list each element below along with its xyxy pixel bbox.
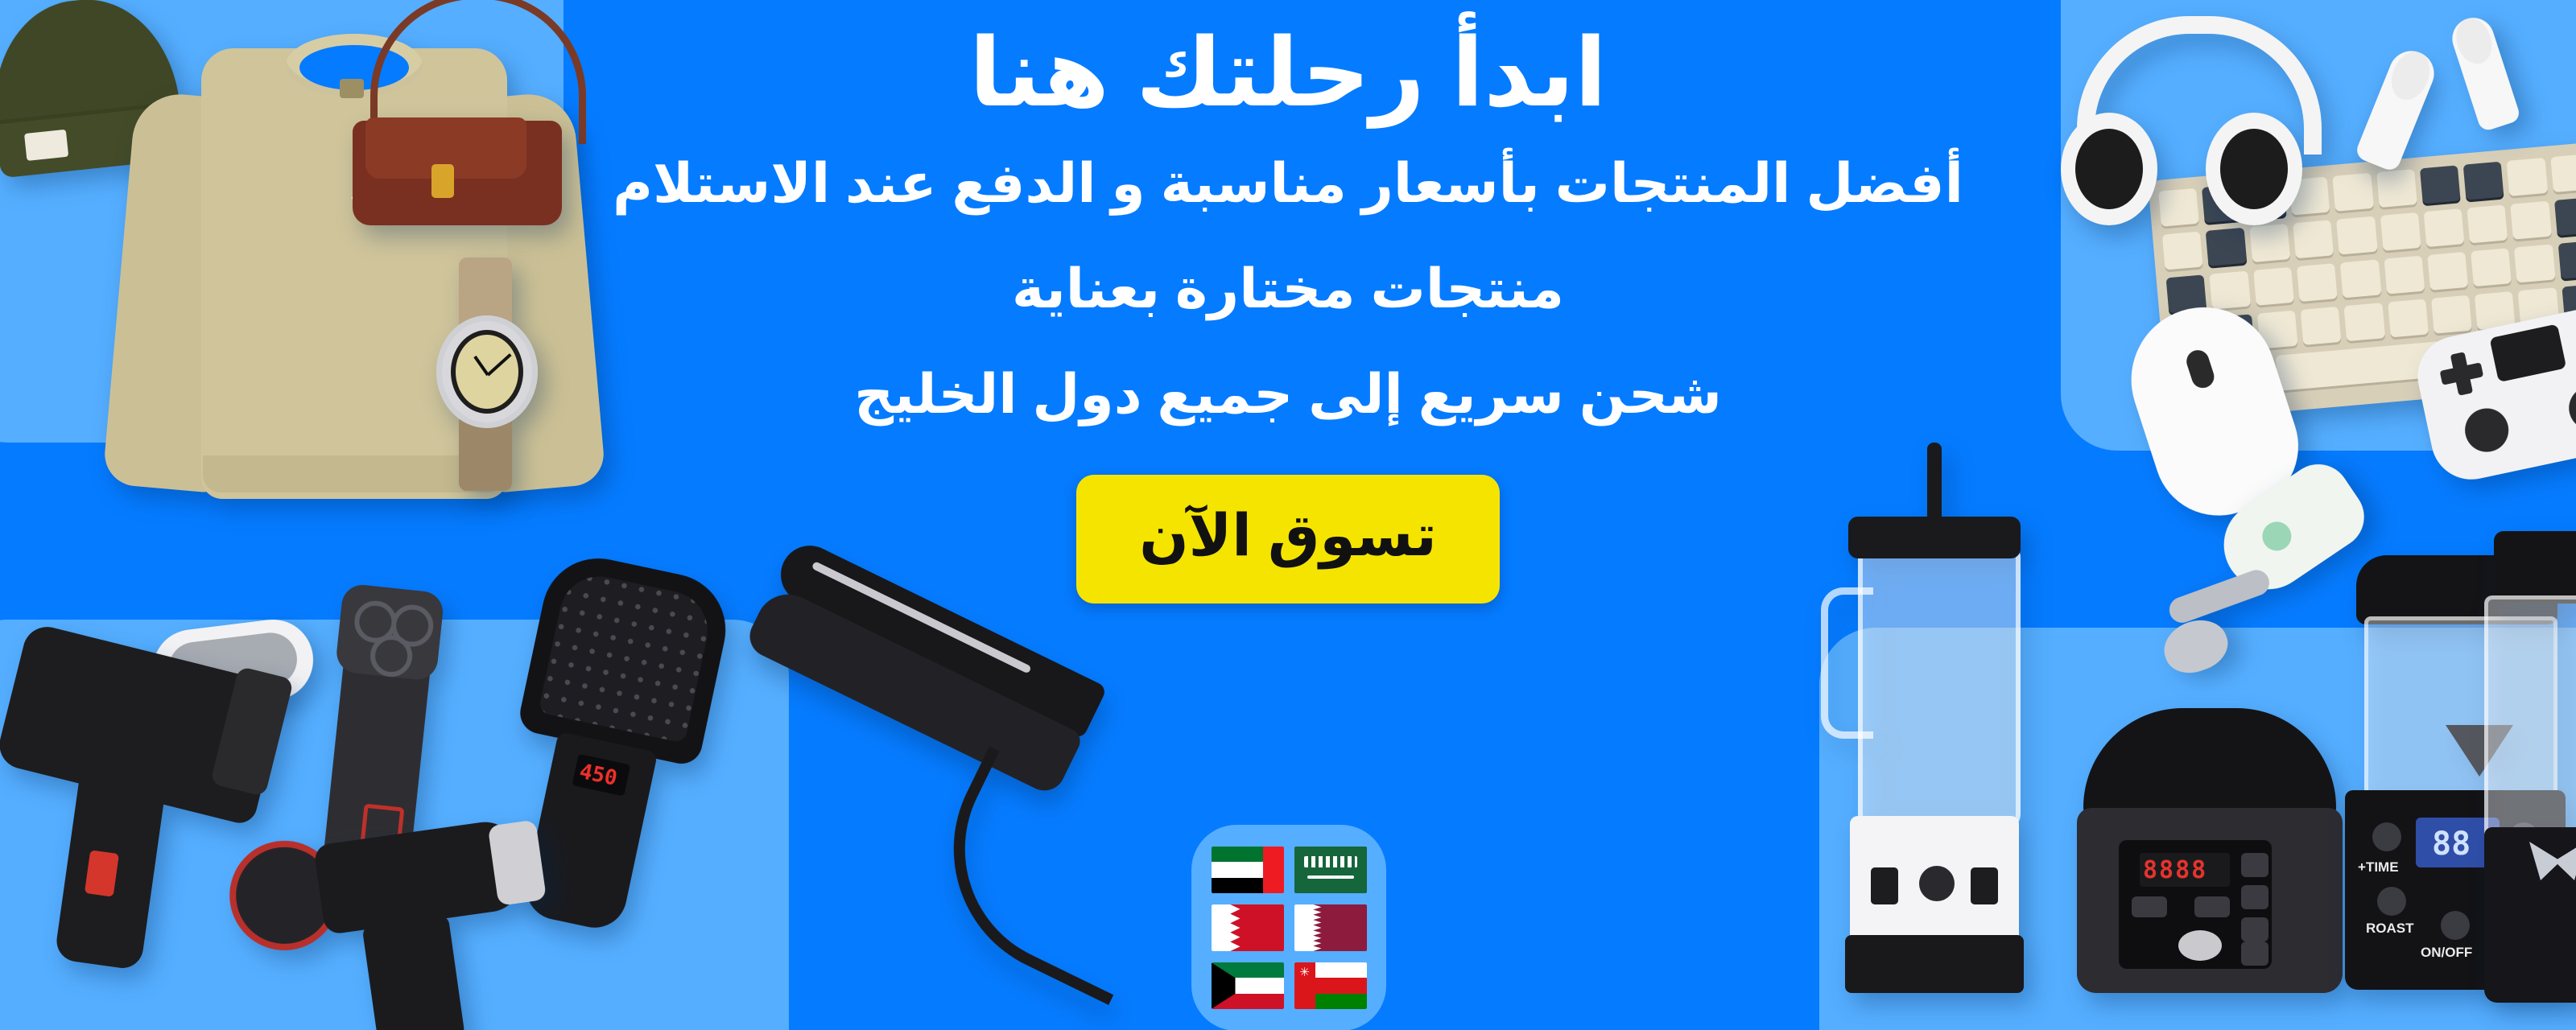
fashion-panel bbox=[0, 0, 563, 443]
kitchen-appliances-panel bbox=[1819, 628, 2576, 1030]
shop-now-button[interactable]: تسوق الآن bbox=[1076, 475, 1500, 604]
subtitle-line-2: منتجات مختارة بعناية bbox=[1012, 259, 1564, 319]
subtitle-line-1: أفضل المنتجات بأسعار مناسبة و الدفع عند … bbox=[613, 154, 1963, 214]
electronics-panel bbox=[2061, 0, 2576, 451]
kuwait-flag-icon bbox=[1212, 962, 1284, 1009]
personal-care-panel bbox=[0, 620, 789, 1030]
headline: ابدأ رحلتك هنا bbox=[969, 18, 1607, 130]
oman-flag-icon: ✳ bbox=[1294, 962, 1367, 1009]
saudi-arabia-flag-icon bbox=[1294, 847, 1367, 893]
subtitle-line-3: شحن سريع إلى جميع دول الخليج bbox=[854, 365, 1722, 425]
qatar-flag-icon bbox=[1294, 904, 1367, 951]
promo-banner: 450 8888 bbox=[0, 0, 2576, 1030]
united-arab-emirates-flag-icon bbox=[1212, 847, 1284, 893]
bahrain-flag-icon bbox=[1212, 904, 1284, 951]
gcc-flags-card: ✳ bbox=[1191, 825, 1386, 1030]
